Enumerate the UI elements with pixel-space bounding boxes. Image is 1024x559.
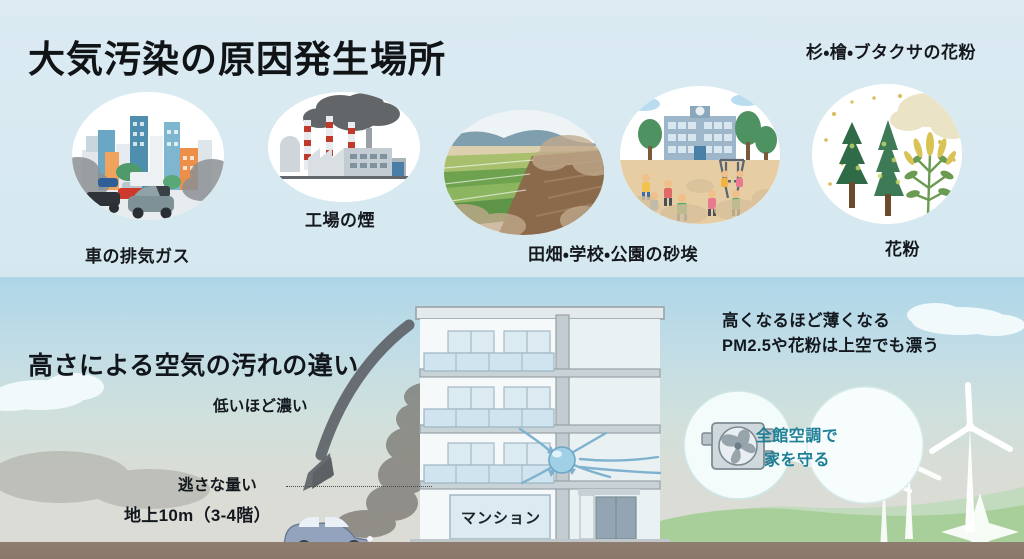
ten-meter-reference-line xyxy=(286,486,432,487)
source-circle-farm-dust xyxy=(444,110,604,235)
source-label-pollen: 花粉 xyxy=(885,235,920,260)
infographic-poster: 大気汚染の原因発生場所 xyxy=(0,0,1024,559)
source-circle-pollen xyxy=(812,84,962,224)
source-circle-factory xyxy=(268,92,420,202)
factory-smoke-icon xyxy=(268,92,420,202)
source-label-car-exhaust: 車の排気ガス xyxy=(85,242,190,267)
right-note-line1: 高くなるほど薄くなる xyxy=(722,309,890,335)
bubble-line1: 全館空調で xyxy=(756,425,839,448)
page-title: 大気汚染の原因発生場所 xyxy=(28,41,446,80)
city-traffic-smog-icon xyxy=(72,92,224,220)
ground-note-line1: 逃さな量い xyxy=(178,474,257,498)
farm-field-dust-icon xyxy=(444,110,604,235)
cedar-tree-pollen-icon xyxy=(812,84,962,224)
pollen-headline: 杉・檜・ブタクサの花粉 xyxy=(806,38,976,63)
ground-note-line2: 地上10m（3-4階） xyxy=(124,503,271,529)
source-circle-schoolyard xyxy=(620,86,780,224)
top-panel: 大気汚染の原因発生場所 xyxy=(0,0,1024,277)
right-note-line2: PM2.5や花粉は上空でも漂う xyxy=(722,334,939,360)
school-playground-icon xyxy=(620,86,780,224)
source-label-dust: 田畑・学校・公園の砂埃 xyxy=(528,240,698,265)
bottom-panel: マンション 高さによる空気の汚れの違い 低いほど濃い 逃さな量い 地上10m（3… xyxy=(0,277,1024,559)
bubble-line2: 家を守る xyxy=(764,449,830,472)
ground-strip xyxy=(0,542,1024,559)
source-label-factory: 工場の煙 xyxy=(305,206,375,231)
source-circle-car-exhaust xyxy=(72,92,224,220)
